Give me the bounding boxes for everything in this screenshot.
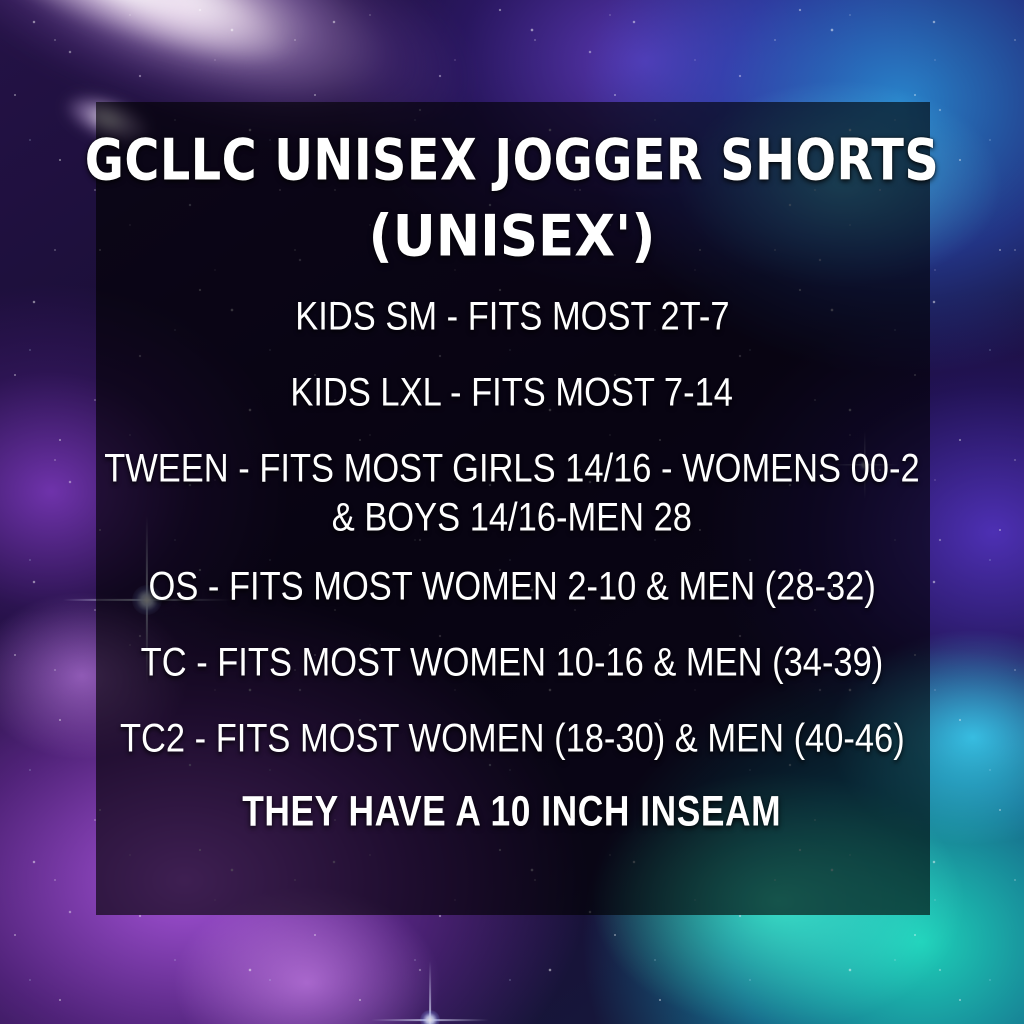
galaxy-sizing-graphic: GCLLC UNISEX JOGGER SHORTS (UNISEX') KID… <box>0 0 1024 1024</box>
sizing-line-tween-cont: & BOYS 14/16-MEN 28 <box>332 498 692 538</box>
sizing-line-list: KIDS SM - FITS MOST 2T-7 KIDS LXL - FITS… <box>0 299 1024 797</box>
inseam-note: THEY HAVE A 10 INCH INSEAM <box>243 791 782 834</box>
sizing-line-kids-lxl: KIDS LXL - FITS MOST 7-14 <box>291 373 734 413</box>
sizing-line-os: OS - FITS MOST WOMEN 2-10 & MEN (28-32) <box>148 567 875 607</box>
sizing-line-tween: TWEEN - FITS MOST GIRLS 14/16 - WOMENS 0… <box>104 449 919 489</box>
sizing-line-kids-sm: KIDS SM - FITS MOST 2T-7 <box>295 297 729 337</box>
page-subtitle: (UNISEX') <box>368 208 655 265</box>
sizing-line-tc: TC - FITS MOST WOMEN 10-16 & MEN (34-39) <box>141 643 884 683</box>
text-content: GCLLC UNISEX JOGGER SHORTS (UNISEX') KID… <box>0 102 1024 915</box>
sizing-line-tc2: TC2 - FITS MOST WOMEN (18-30) & MEN (40-… <box>120 719 905 759</box>
page-title: GCLLC UNISEX JOGGER SHORTS <box>85 132 939 190</box>
